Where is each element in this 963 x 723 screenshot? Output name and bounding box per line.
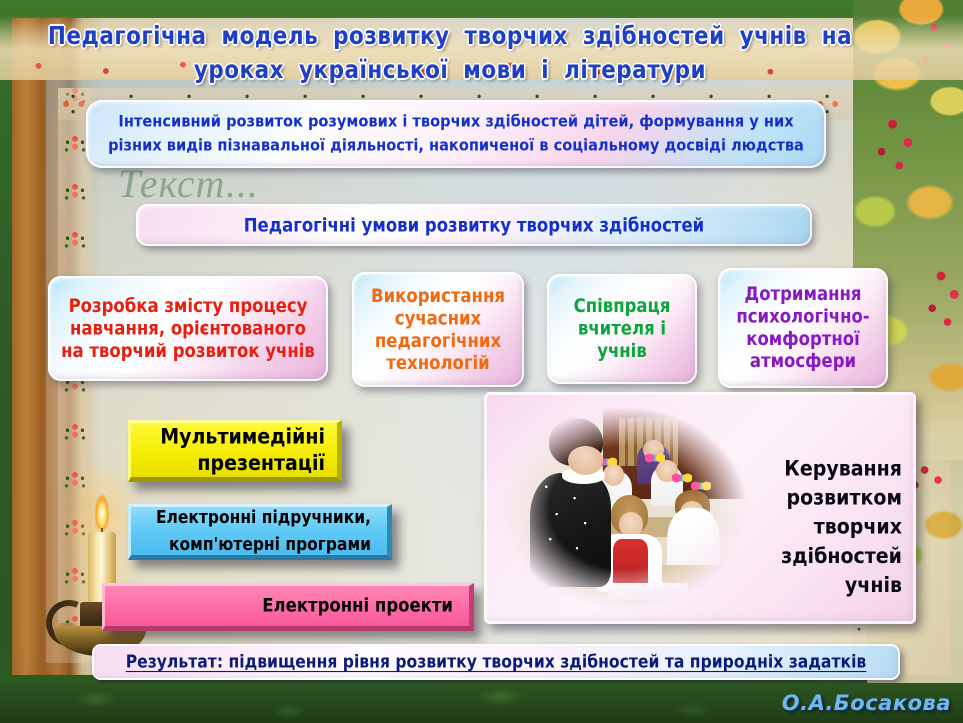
statement-line1: Інтенсивний розвиток розумових і творчих… [104,110,808,134]
presentation-slide: Текст... Педагогічна модель розвитку тво… [0,0,963,723]
tool-bar-ebooks: Електронні підручники, комп'ютерні прогр… [128,504,392,560]
condition-card-content-label: Розробка змісту процесу навчання, орієнт… [48,295,328,362]
tool-bar-ebooks-label: Електронні підручники, комп'ютерні прогр… [131,504,387,558]
condition-card-content: Розробка змісту процесу навчання, орієнт… [48,276,328,381]
photo-pupil-main-face [619,512,643,536]
condition-card-cooperation-label: Співпраця вчителя і учнів [547,295,697,362]
condition-card-technologies-label: Використання сучасних педагогічних техно… [352,285,524,375]
author-signature: О.А.Босакова [782,691,951,715]
condition-card-atmosphere: Дотримання психологічно-комфортної атмос… [718,268,888,388]
classroom-photo [490,398,758,618]
photo-hair-bow-icon [691,479,711,493]
result-bar: Результат: підвищення рівня розвитку тво… [92,644,900,680]
tool-bar-projects: Електронні проекти [102,583,474,631]
tool-bar-multimedia: Мультимедійні презентації [128,420,342,482]
condition-card-technologies: Використання сучасних педагогічних техно… [352,272,524,387]
page-title: Педагогічна модель розвитку творчих здіб… [40,20,860,88]
statement-line2: різних видів пізнавальної діяльності, на… [104,134,808,158]
photo-paper [608,583,688,601]
conditions-header-box: Педагогічні умови розвитку творчих здібн… [136,204,812,246]
page-title-line2: уроках української мови і літератури [40,54,860,88]
candle-flame-icon [94,488,110,530]
candle-illustration [36,470,166,660]
photo-pupil-main-vest [613,539,648,587]
tool-bar-multimedia-label: Мультимедійні презентації [131,423,337,477]
statement-box: Інтенсивний розвиток розумових і творчих… [86,100,826,168]
result-label: Результат: підвищення рівня розвитку тво… [126,652,867,672]
condition-card-atmosphere-label: Дотримання психологічно-комфортної атмос… [718,283,888,373]
tool-bar-projects-label: Електронні проекти [105,593,469,620]
page-title-line1: Педагогічна модель розвитку творчих здіб… [40,20,860,54]
condition-card-cooperation: Співпраця вчителя і учнів [547,274,697,384]
conditions-header-label: Педагогічні умови розвитку творчих здібн… [136,214,812,235]
photo-hair-bow-icon [645,451,665,465]
photo-panel-caption: Керування розвитком творчих здібностей у… [742,454,902,600]
photo-teacher-body [530,473,610,587]
photo-teacher-face [568,446,603,475]
photo-hair-bow-icon [672,471,692,485]
photo-panel: Керування розвитком творчих здібностей у… [484,392,916,624]
statement-text: Інтенсивний розвиток розумових і творчих… [86,110,826,158]
